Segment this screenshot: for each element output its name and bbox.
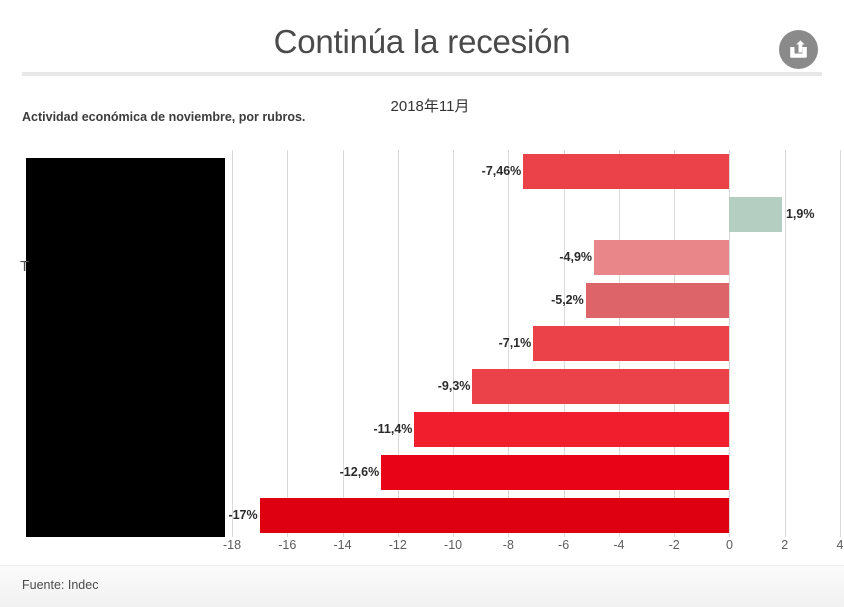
x-axis-tick-label: -18 (210, 538, 254, 552)
bar-row: -7,1% (232, 326, 840, 360)
bar-value-label: -7,1% (499, 336, 532, 350)
bar[interactable] (523, 154, 729, 188)
page-footer: Fuente: Indec (0, 565, 844, 607)
bar-row: -17% (232, 498, 840, 532)
bar[interactable] (381, 455, 729, 489)
bar[interactable] (729, 197, 782, 231)
bar[interactable] (586, 283, 730, 317)
x-axis-tick-label: -2 (652, 538, 696, 552)
chart-page: Continúa la recesión Actividad económica… (0, 0, 844, 607)
bar-value-label: -5,2% (551, 293, 584, 307)
x-axis-tick-label: -8 (486, 538, 530, 552)
bar[interactable] (472, 369, 729, 403)
x-axis-tick-label: -12 (376, 538, 420, 552)
redaction-partial-glyph: T (20, 258, 29, 275)
bar-row: -11,4% (232, 412, 840, 446)
header-divider (22, 72, 822, 76)
x-axis-tick-label: -10 (431, 538, 475, 552)
bar-row: -7,46% (232, 154, 840, 188)
x-axis-tick-label: 4 (818, 538, 844, 552)
plot-area: -18-16-14-12-10-8-6-4-2024-7,46%1,9%-4,9… (232, 150, 840, 537)
x-axis-tick-label: -4 (597, 538, 641, 552)
x-axis-tick-label: -6 (542, 538, 586, 552)
bar[interactable] (533, 326, 729, 360)
share-button[interactable] (779, 30, 818, 69)
bar-value-label: -11,4% (373, 422, 412, 436)
chart-subtitle: Actividad económica de noviembre, por ru… (22, 110, 305, 124)
chart-period-label: 2018年11月 (340, 95, 520, 116)
bar[interactable] (260, 498, 730, 532)
bar-row: -5,2% (232, 283, 840, 317)
bar-value-label: -4,9% (559, 250, 592, 264)
bar-value-label: -7,46% (482, 164, 522, 178)
source-label: Fuente: Indec (22, 578, 98, 592)
page-header: Continúa la recesión (0, 0, 844, 74)
x-axis-tick-label: -16 (265, 538, 309, 552)
x-axis-tick-label: 2 (763, 538, 807, 552)
bar-value-label: -9,3% (438, 379, 471, 393)
bar[interactable] (594, 240, 729, 274)
bar-row: -9,3% (232, 369, 840, 403)
bar[interactable] (414, 412, 729, 446)
x-axis-tick-label: 0 (707, 538, 751, 552)
page-title: Continúa la recesión (0, 18, 844, 66)
bar-value-label: -17% (228, 508, 257, 522)
x-axis-tick-label: -14 (321, 538, 365, 552)
bar-row: 1,9% (232, 197, 840, 231)
bar-row: -12,6% (232, 455, 840, 489)
gridline (840, 150, 841, 537)
bar-value-label: -12,6% (340, 465, 380, 479)
bar-value-label: 1,9% (786, 207, 815, 221)
bar-row: -4,9% (232, 240, 840, 274)
redaction-overlay (26, 158, 225, 537)
